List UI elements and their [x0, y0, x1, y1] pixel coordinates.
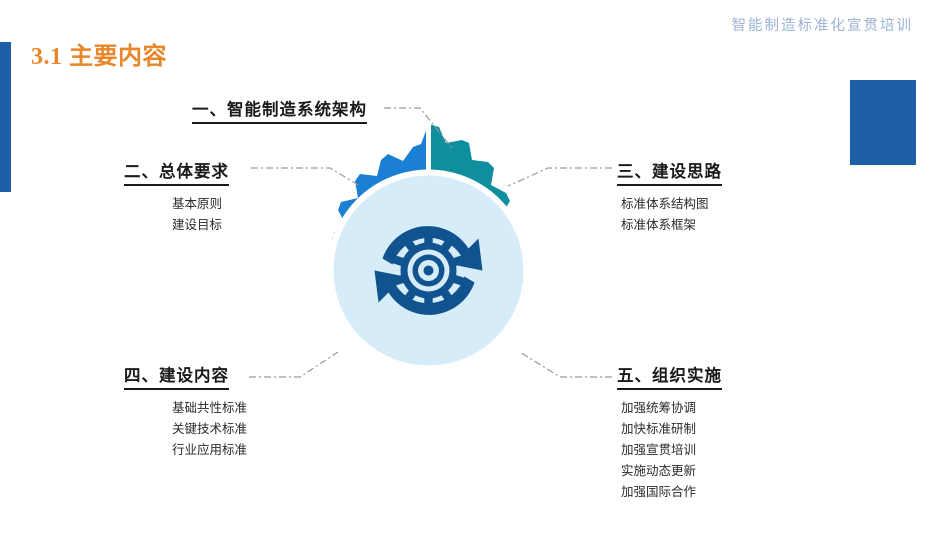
page-title: 3.1 主要内容 — [31, 36, 167, 71]
node-2-items: 基本原则 建设目标 — [124, 194, 229, 236]
node-3-item: 标准体系框架 — [621, 215, 722, 236]
node-4-item: 关键技术标准 — [172, 419, 247, 440]
node-3-items: 标准体系结构图 标准体系框架 — [617, 194, 722, 236]
node-5-item: 加强宣贯培训 — [621, 440, 722, 461]
node-5-item: 加强统筹协调 — [621, 398, 722, 419]
decorative-square — [850, 80, 916, 165]
node-5-items: 加强统筹协调 加快标准研制 加强宣贯培训 实施动态更新 加强国际合作 — [617, 398, 722, 503]
node-4-item: 行业应用标准 — [172, 440, 247, 461]
node-2[interactable]: 二、总体要求 基本原则 建设目标 — [124, 158, 229, 236]
slide-canvas: 智能制造标准化宣贯培训 3.1 主要内容 — [0, 0, 951, 535]
node-5-item: 加强国际合作 — [621, 482, 722, 503]
node-1[interactable]: 一、智能制造系统架构 — [192, 96, 367, 124]
node-4-items: 基础共性标准 关键技术标准 行业应用标准 — [124, 398, 247, 461]
node-1-heading: 一、智能制造系统架构 — [192, 96, 367, 124]
node-4[interactable]: 四、建设内容 基础共性标准 关键技术标准 行业应用标准 — [124, 362, 247, 461]
node-5-item: 加快标准研制 — [621, 419, 722, 440]
node-2-item: 建设目标 — [172, 215, 229, 236]
node-4-heading: 四、建设内容 — [124, 362, 229, 390]
node-5-item: 实施动态更新 — [621, 461, 722, 482]
node-2-heading: 二、总体要求 — [124, 158, 229, 186]
node-5-heading: 五、组织实施 — [617, 362, 722, 390]
node-4-item: 基础共性标准 — [172, 398, 247, 419]
node-3-item: 标准体系结构图 — [621, 194, 722, 215]
node-2-item: 基本原则 — [172, 194, 229, 215]
node-3-heading: 三、建设思路 — [617, 158, 722, 186]
node-5[interactable]: 五、组织实施 加强统筹协调 加快标准研制 加强宣贯培训 实施动态更新 加强国际合… — [617, 362, 722, 503]
node-3[interactable]: 三、建设思路 标准体系结构图 标准体系框架 — [617, 158, 722, 236]
left-accent-bar — [0, 42, 11, 192]
header-banner-text: 智能制造标准化宣贯培训 — [732, 14, 914, 35]
central-gear-graphic — [276, 118, 581, 423]
